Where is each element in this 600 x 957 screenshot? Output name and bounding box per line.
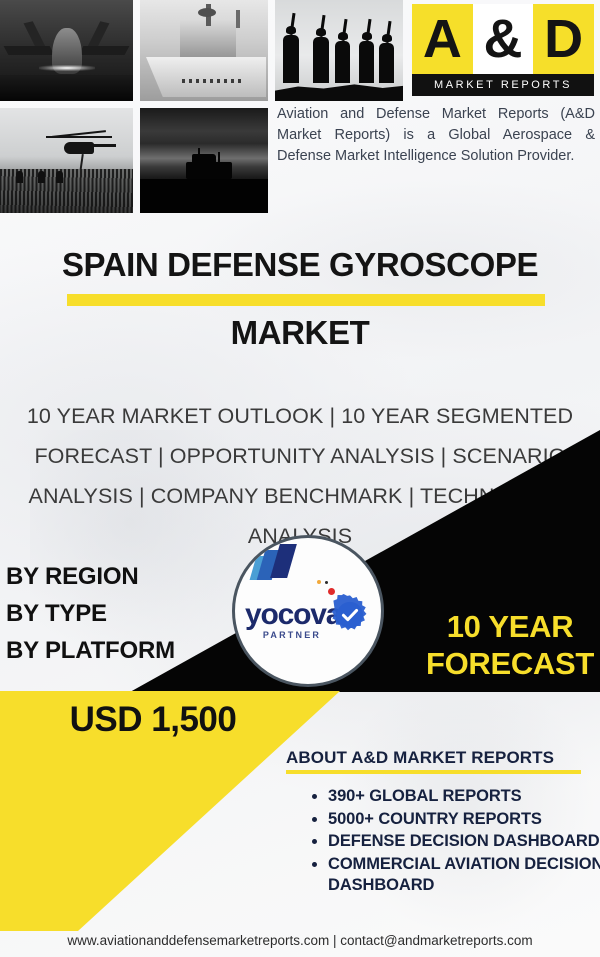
about-heading: ABOUT A&D MARKET REPORTS [286,748,554,768]
about-bullet-list: 390+ GLOBAL REPORTS 5000+ COUNTRY REPORT… [310,786,600,898]
list-item: COMMERCIAL AVIATION DECISION DASHBOARD [328,854,600,897]
logo-tagline-bar: MARKET REPORTS [412,74,594,96]
yocova-partner-badge: yocova PARTNER [232,535,384,687]
list-item: 5000+ COUNTRY REPORTS [328,809,600,831]
logo-letter-d: D [533,4,594,74]
page-title-line1: SPAIN DEFENSE GYROSCOPE [0,246,600,284]
list-item: DEFENSE DECISION DASHBOARD [328,831,600,853]
logo-letter-a: A [412,4,473,74]
forecast-badge-line2: FORECAST [420,645,600,682]
price-value: USD 1,500 [18,700,288,740]
yocova-wordmark: yocova [245,600,339,630]
fighter-jet-photo [0,0,133,101]
segment-item-type: BY TYPE [6,595,175,632]
segmentation-list: BY REGION BY TYPE BY PLATFORM [6,558,175,669]
ad-market-reports-logo: A & D MARKET REPORTS [412,4,594,96]
segment-item-platform: BY PLATFORM [6,632,175,669]
forecast-badge-line1: 10 YEAR [420,608,600,645]
yocova-flag-icon [253,544,305,584]
yocova-partner-label: PARTNER [245,630,339,640]
verified-check-icon [329,594,371,636]
list-item: 390+ GLOBAL REPORTS [328,786,600,808]
marketing-poster: A & D MARKET REPORTS Aviation and Defens… [0,0,600,957]
segment-item-region: BY REGION [6,558,175,595]
footer-contact: www.aviationanddefensemarketreports.com … [0,933,600,948]
about-heading-underline [286,770,581,774]
naval-ship-photo [140,0,268,101]
forecast-badge: 10 YEAR FORECAST [420,608,600,682]
company-intro-text: Aviation and Defense Market Reports (A&D… [277,104,595,167]
soldiers-silhouette-photo [275,0,403,101]
logo-ampersand: & [473,4,534,74]
page-title-line2: MARKET [0,314,600,352]
helicopter-photo [0,108,133,213]
military-vehicle-photo [140,108,268,213]
title-underline-bar [67,294,545,306]
logo-tagline: MARKET REPORTS [434,79,572,91]
